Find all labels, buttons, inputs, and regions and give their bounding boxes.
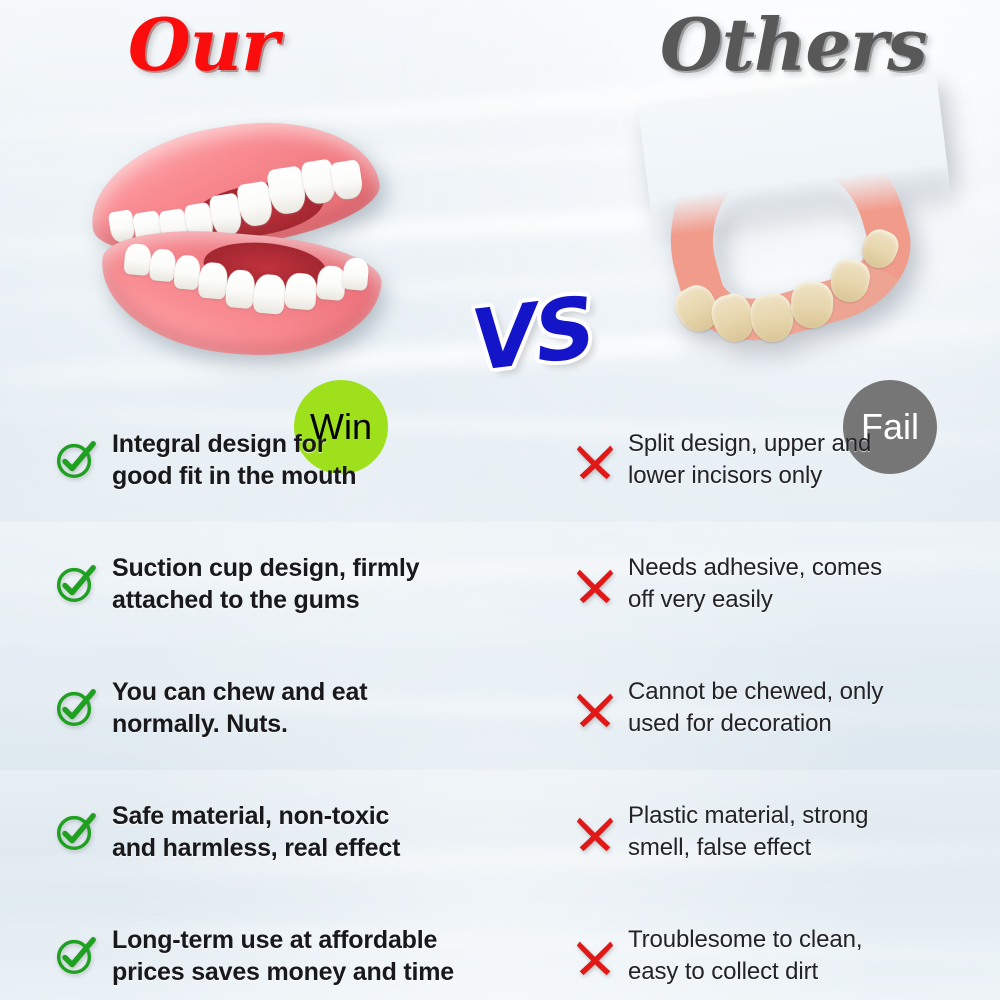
lower-denture <box>95 222 384 366</box>
row-good-cell: Integral design for good fit in the mout… <box>0 398 560 522</box>
table-row: Integral design for good fit in the mout… <box>0 398 1000 522</box>
hero-section: VS Win Fail <box>0 96 1000 396</box>
row-good-cell: Safe material, non-toxic and harmless, r… <box>0 770 560 894</box>
product-image-others <box>655 104 925 354</box>
header-title-others: Others <box>660 2 927 87</box>
row-good-cell: Suction cup design, firmly attached to t… <box>0 522 560 646</box>
row-good-text: You can chew and eat normally. Nuts. <box>112 676 367 741</box>
row-good-cell: You can chew and eat normally. Nuts. <box>0 646 560 770</box>
row-bad-cell: Troublesome to clean, easy to collect di… <box>560 894 1000 1000</box>
vs-label: VS <box>467 285 598 383</box>
red-x-icon <box>572 685 618 731</box>
row-bad-cell: Split design, upper and lower incisors o… <box>560 398 1000 522</box>
row-bad-cell: Needs adhesive, comes off very easily <box>560 522 1000 646</box>
row-bad-text: Split design, upper and lower incisors o… <box>628 428 871 492</box>
table-row: You can chew and eat normally. Nuts. Can… <box>0 646 1000 770</box>
row-good-text: Safe material, non-toxic and harmless, r… <box>112 800 400 865</box>
row-bad-text: Cannot be chewed, only used for decorati… <box>628 676 883 740</box>
table-row: Safe material, non-toxic and harmless, r… <box>0 770 1000 894</box>
comparison-infographic: Our Others <box>0 0 1000 1000</box>
row-good-text: Suction cup design, firmly attached to t… <box>112 552 419 617</box>
comparison-rows: Integral design for good fit in the mout… <box>0 398 1000 1000</box>
red-x-icon <box>572 933 618 979</box>
product-image-our <box>70 106 400 366</box>
row-bad-text: Troublesome to clean, easy to collect di… <box>628 924 862 988</box>
row-good-cell: Long-term use at affordable prices saves… <box>0 894 560 1000</box>
header-title-our: Our <box>128 2 278 87</box>
row-bad-cell: Plastic material, strong smell, false ef… <box>560 770 1000 894</box>
check-circle-icon <box>52 809 98 855</box>
check-circle-icon <box>52 437 98 483</box>
row-bad-text: Needs adhesive, comes off very easily <box>628 552 882 616</box>
red-x-icon <box>572 561 618 607</box>
check-circle-icon <box>52 685 98 731</box>
veneer-highlight <box>638 72 952 238</box>
row-good-text: Integral design for good fit in the mout… <box>112 428 356 493</box>
check-circle-icon <box>52 933 98 979</box>
table-row: Suction cup design, firmly attached to t… <box>0 522 1000 646</box>
check-circle-icon <box>52 561 98 607</box>
row-good-text: Long-term use at affordable prices saves… <box>112 924 454 989</box>
red-x-icon <box>572 809 618 855</box>
red-x-icon <box>572 437 618 483</box>
table-row: Long-term use at affordable prices saves… <box>0 894 1000 1000</box>
header: Our Others <box>0 0 1000 96</box>
row-bad-cell: Cannot be chewed, only used for decorati… <box>560 646 1000 770</box>
row-bad-text: Plastic material, strong smell, false ef… <box>628 800 868 864</box>
